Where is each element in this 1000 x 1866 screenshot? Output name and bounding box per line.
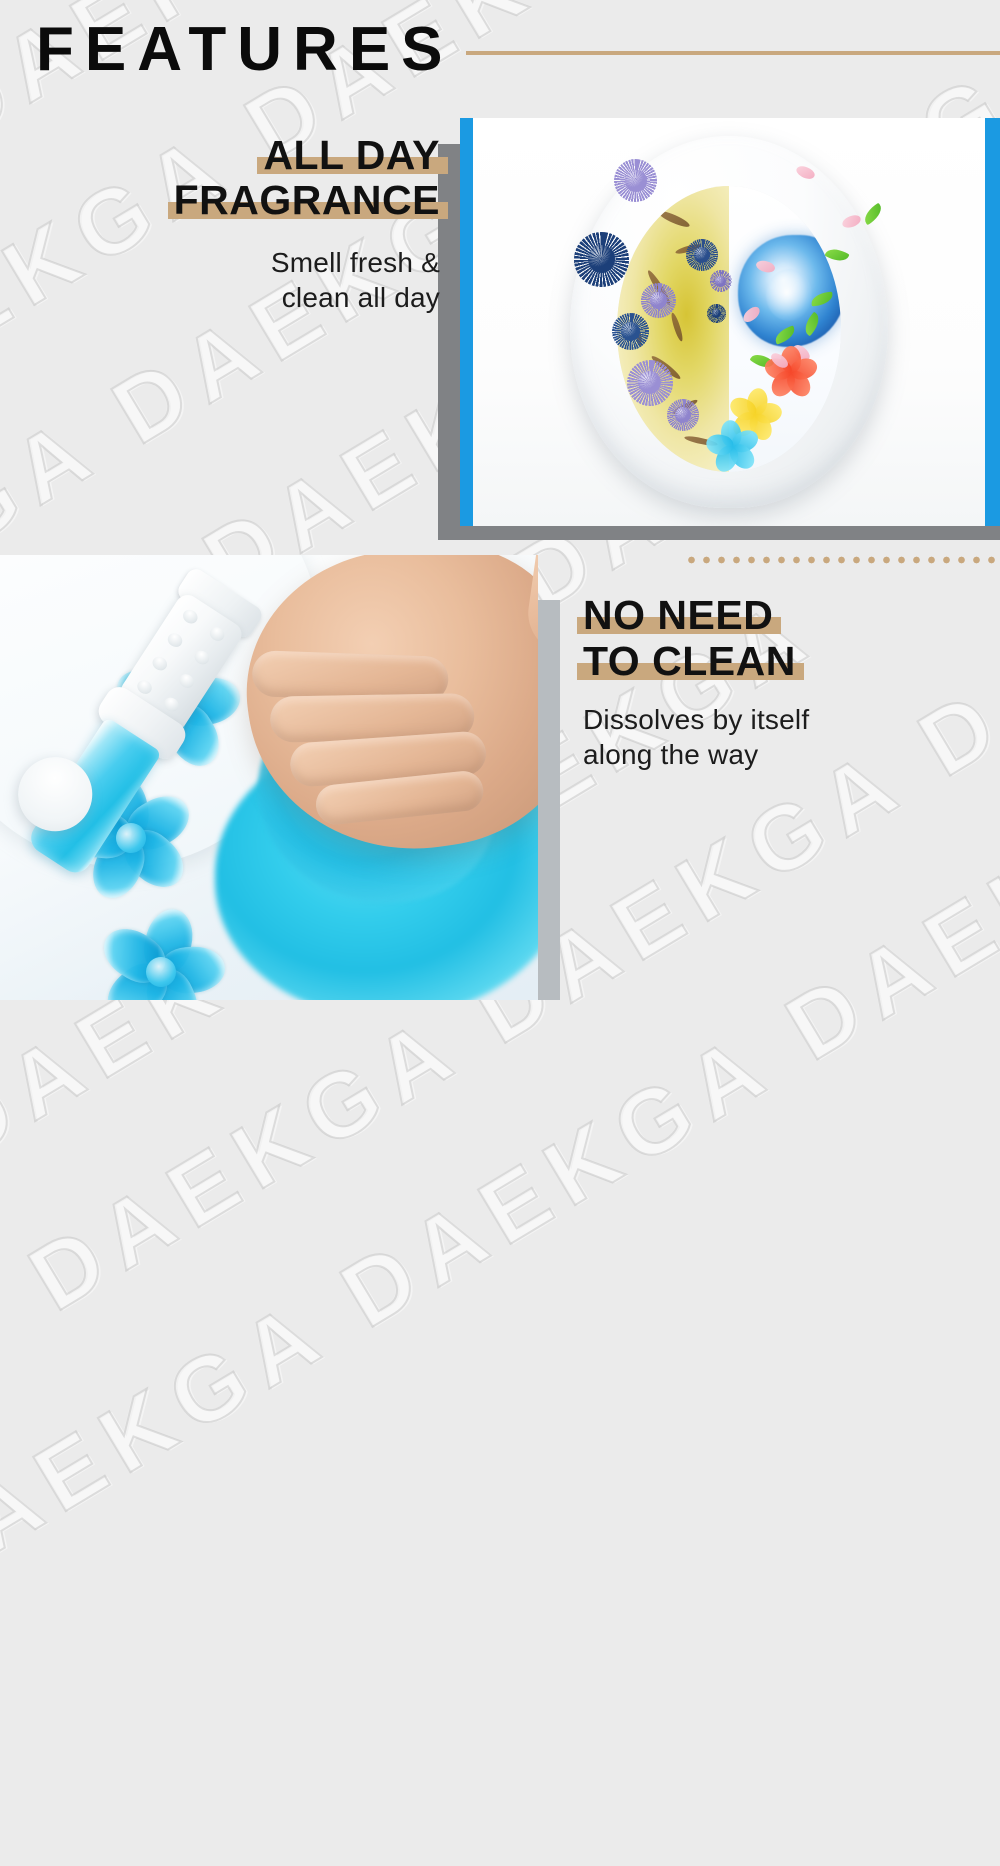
grip-bump — [162, 695, 182, 714]
feature-block-all-day-fragrance: ALL DAY FRAGRANCE Smell fresh & clean al… — [0, 133, 440, 315]
grip-bump — [180, 607, 200, 626]
feature-body: Smell fresh & clean all day — [0, 245, 440, 315]
germ-sphere — [646, 289, 670, 313]
germ-sphere — [621, 166, 651, 196]
bottom-photo-shadow-right — [536, 600, 560, 1000]
photo-gel-applicator — [0, 555, 538, 1000]
feature-body-line: along the way — [583, 737, 983, 772]
feature-heading: NO NEED TO CLEAN — [583, 592, 983, 684]
photo-top-blue-edge-left — [460, 118, 473, 526]
photo-toilet-before-after — [460, 118, 1000, 526]
grip-bump — [207, 625, 227, 644]
grip-bump — [177, 671, 197, 690]
grip-bump — [165, 631, 185, 650]
feature-heading: ALL DAY FRAGRANCE — [0, 133, 440, 223]
feature-body-line: Dissolves by itself — [583, 702, 983, 737]
germ-sphere — [583, 240, 621, 278]
heading-line-highlight: ALL DAY — [263, 133, 440, 178]
heading-line-highlight: FRAGRANCE — [174, 178, 440, 223]
gel-flower-blue — [707, 421, 759, 472]
photo-top-blue-edge-right — [985, 118, 1000, 526]
page-title: FEATURES — [36, 14, 454, 86]
heading-line-highlight: TO CLEAN — [583, 638, 796, 684]
germ-sphere — [634, 367, 666, 399]
feature-body-line: clean all day — [0, 280, 440, 315]
germ-sphere — [710, 307, 723, 320]
header: FEATURES — [0, 0, 1000, 110]
photo-top-canvas — [473, 118, 985, 526]
grip-bump — [150, 654, 170, 673]
grip-bump — [135, 678, 155, 697]
germ-sphere — [713, 274, 728, 289]
green-leaf — [861, 202, 886, 225]
heading-line-highlight: NO NEED — [583, 592, 773, 638]
grip-bump — [192, 648, 212, 667]
dotted-divider — [684, 554, 1000, 566]
germ-sphere — [618, 318, 644, 344]
feature-body-line: Smell fresh & — [0, 245, 440, 280]
feature-block-no-need-to-clean: NO NEED TO CLEAN Dissolves by itself alo… — [583, 592, 983, 772]
germ-sphere — [672, 404, 694, 426]
toilet-bowl-interior — [617, 186, 841, 472]
header-divider-rule — [466, 51, 1000, 55]
feature-body: Dissolves by itself along the way — [583, 702, 983, 772]
toilet-seat — [570, 136, 888, 508]
germ-sphere — [691, 244, 713, 266]
